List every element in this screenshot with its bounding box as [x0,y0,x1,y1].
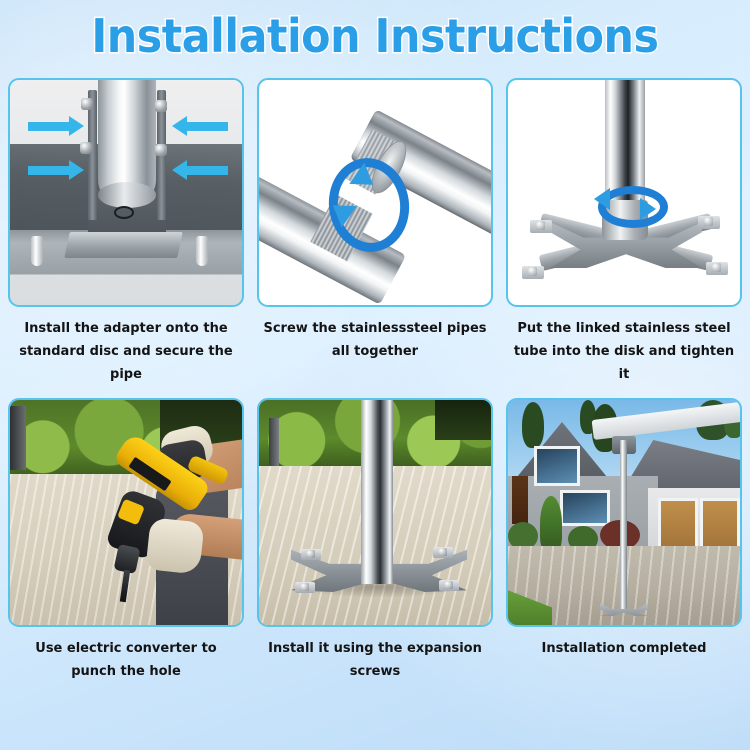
bolt-icon [155,100,167,112]
front-door [512,476,528,524]
nut-icon [528,267,537,276]
step-card-1: Install the adapter onto the standard di… [8,78,244,386]
fence-post [269,418,279,468]
base-installed-photo [257,398,493,627]
adapter-on-disc-photo [8,78,244,307]
bolt-pad [698,216,720,229]
steel-pipe-base [98,182,156,208]
step-card-5: Install it using the expansion screws [257,398,493,683]
expansion-screw-pad [439,580,459,591]
hedge-shadow [435,400,493,440]
house-window [534,446,580,486]
rotation-arrow-head-icon [640,198,656,220]
step-card-2: Screw the stainlesssteel pipes all toget… [257,78,493,386]
arrow-icon [28,122,70,131]
expansion-screw-pad [433,547,453,558]
washer-ring [114,206,134,219]
nut-icon [704,217,713,226]
nut-icon [712,263,721,272]
drilling-hole-photo [8,398,244,627]
step-caption: Put the linked stainless steel tube into… [510,317,738,386]
pipes-screwed-together-photo [257,78,493,307]
nut-icon [444,581,453,589]
arrow-icon [186,166,228,175]
rotation-arrow-head-icon [594,188,610,210]
step-caption: Install it using the expansion screws [261,637,489,683]
bolt-icon [81,98,93,110]
title-bar: Installation Instructions [0,0,750,72]
tube-into-disk-photo [506,78,742,307]
steps-grid: Install the adapter onto the standard di… [8,78,742,683]
house-window [560,490,610,526]
page-title: Installation Instructions [91,10,658,62]
step-card-4: Use electric converter to punch the hole [8,398,244,683]
step-caption: Installation completed [510,637,738,660]
step-caption: Install the adapter onto the standard di… [12,317,240,386]
expansion-screw-pad [301,549,321,560]
garage-door [658,498,698,552]
nut-icon [536,221,545,230]
bolt-icon [155,144,167,156]
tree [522,402,544,448]
shrub [540,496,562,552]
arrow-icon [186,122,228,131]
expansion-screw-pad [295,582,315,593]
nut-icon [306,550,315,558]
disc-rail [64,232,183,258]
garage-door [700,498,740,552]
installation-completed-photo [506,398,742,627]
work-glove [145,517,204,574]
bolt-pad [530,220,552,233]
arrow-icon [28,166,70,175]
installed-pole [620,440,627,612]
step-caption: Screw the stainlesssteel pipes all toget… [261,317,489,363]
step-caption: Use electric converter to punch the hole [12,637,240,683]
screw-pin [196,236,208,266]
screw-pin [31,236,43,266]
stainless-steel-pole [361,398,393,584]
metal-gate [10,406,26,470]
instruction-poster: Installation Instructions [0,0,750,750]
bolt-pad [706,262,728,275]
bolt-icon [80,142,92,154]
nut-icon [300,583,309,591]
bolt-pad [522,266,544,279]
step-card-6: Installation completed [506,398,742,683]
step-card-3: Put the linked stainless steel tube into… [506,78,742,386]
nut-icon [438,548,447,556]
